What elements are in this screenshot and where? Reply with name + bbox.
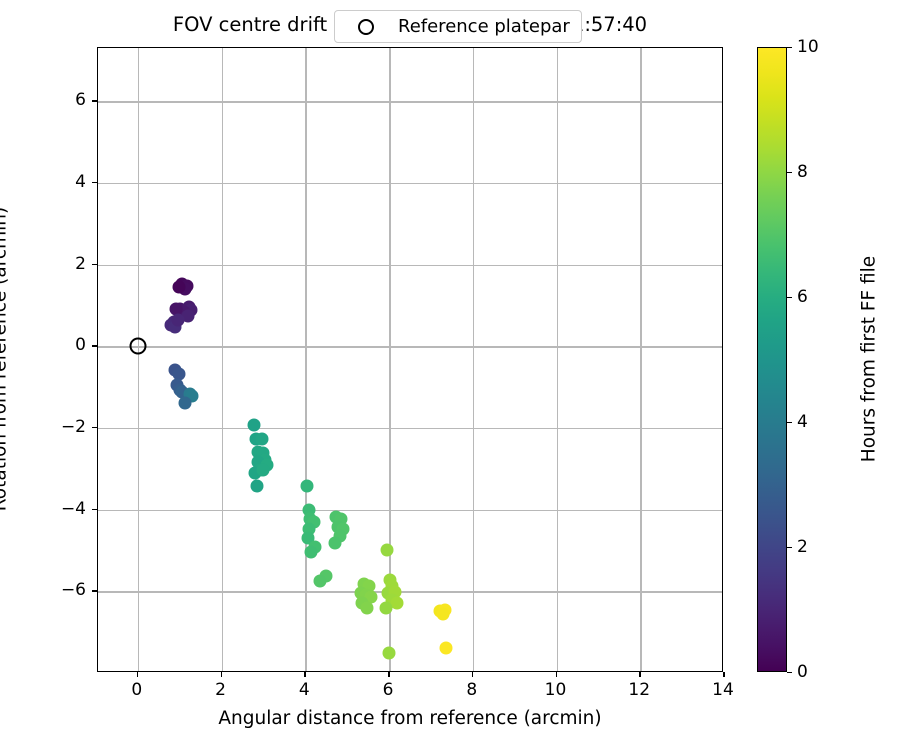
colorbar-label-text: Hours from first FF file — [859, 256, 880, 462]
scatter-point — [300, 479, 313, 492]
x-tick-mark — [723, 672, 725, 677]
colorbar-tick-label: 8 — [797, 162, 808, 182]
x-tick-mark — [556, 672, 558, 677]
y-tick-label: 4 — [40, 172, 86, 192]
scatter-point — [171, 314, 184, 327]
gridline-horizontal — [98, 428, 722, 430]
colorbar-tick-label: 0 — [797, 662, 808, 682]
x-tick-label: 8 — [466, 680, 477, 700]
y-tick-label: 0 — [40, 335, 86, 355]
x-tick-label: 10 — [545, 680, 567, 700]
x-tick-mark — [221, 672, 223, 677]
y-tick-mark — [92, 264, 97, 266]
x-tick-label: 2 — [215, 680, 226, 700]
colorbar-tick-label: 6 — [797, 287, 808, 307]
legend-item-label: Reference platepar — [398, 16, 570, 37]
y-tick-label: −4 — [40, 499, 86, 519]
scatter-point — [248, 418, 261, 431]
x-axis-label: Angular distance from reference (arcmin) — [97, 708, 723, 729]
x-tick-mark — [137, 672, 139, 677]
plot-axes — [97, 47, 723, 672]
y-tick-mark — [92, 100, 97, 102]
gridline-vertical — [640, 48, 642, 671]
scatter-point — [255, 432, 268, 445]
gridline-vertical — [138, 48, 140, 671]
scatter-plot-area — [98, 48, 722, 671]
y-tick-mark — [92, 182, 97, 184]
gridline-horizontal — [98, 183, 722, 185]
x-tick-label: 14 — [712, 680, 734, 700]
scatter-point — [313, 574, 326, 587]
y-tick-label: 6 — [40, 90, 86, 110]
gridline-vertical — [473, 48, 475, 671]
x-tick-mark — [639, 672, 641, 677]
y-tick-mark — [92, 427, 97, 429]
x-tick-label: 0 — [131, 680, 142, 700]
y-axis-label-text: Rotation from reference (arcmin) — [0, 207, 11, 511]
colorbar-tick-mark — [787, 547, 792, 548]
gridline-vertical — [557, 48, 559, 671]
scatter-point — [178, 397, 191, 410]
y-tick-mark — [92, 509, 97, 511]
scatter-point — [305, 546, 318, 559]
scatter-point — [439, 641, 452, 654]
open-circle-marker-icon — [358, 19, 374, 35]
scatter-point — [383, 647, 396, 660]
gridline-horizontal — [98, 346, 722, 348]
y-tick-mark — [92, 345, 97, 347]
scatter-point — [257, 464, 270, 477]
scatter-point — [328, 537, 341, 550]
colorbar-tick-label: 10 — [797, 37, 819, 57]
scatter-point — [436, 608, 449, 621]
colorbar-tick-mark — [787, 672, 792, 673]
gridline-horizontal — [98, 510, 722, 512]
colorbar-gradient — [757, 47, 787, 672]
y-tick-label: −6 — [40, 580, 86, 600]
colorbar-tick-mark — [787, 297, 792, 298]
x-tick-mark — [388, 672, 390, 677]
x-tick-label: 12 — [628, 680, 650, 700]
y-tick-label: 2 — [40, 254, 86, 274]
colorbar-tick-mark — [787, 47, 792, 48]
gridline-horizontal — [98, 591, 722, 593]
matplotlib-figure: FOV centre drift starting at 2025/10/22 … — [0, 0, 900, 750]
scatter-point — [379, 601, 392, 614]
x-tick-mark — [472, 672, 474, 677]
colorbar — [757, 47, 787, 672]
gridline-horizontal — [98, 101, 722, 103]
gridline-vertical — [305, 48, 307, 671]
scatter-point — [172, 281, 185, 294]
y-tick-label: −2 — [40, 417, 86, 437]
scatter-point — [381, 544, 394, 557]
reference-platepar-marker — [129, 338, 146, 355]
x-tick-mark — [304, 672, 306, 677]
gridline-horizontal — [98, 265, 722, 267]
colorbar-tick-mark — [787, 422, 792, 423]
scatter-point — [250, 479, 263, 492]
colorbar-tick-label: 2 — [797, 537, 808, 557]
gridline-vertical — [222, 48, 224, 671]
colorbar-tick-mark — [787, 172, 792, 173]
x-tick-label: 4 — [299, 680, 310, 700]
colorbar-tick-label: 4 — [797, 412, 808, 432]
x-tick-label: 6 — [383, 680, 394, 700]
y-tick-mark — [92, 590, 97, 592]
scatter-point — [361, 602, 374, 615]
legend[interactable]: Reference platepar — [334, 10, 582, 43]
